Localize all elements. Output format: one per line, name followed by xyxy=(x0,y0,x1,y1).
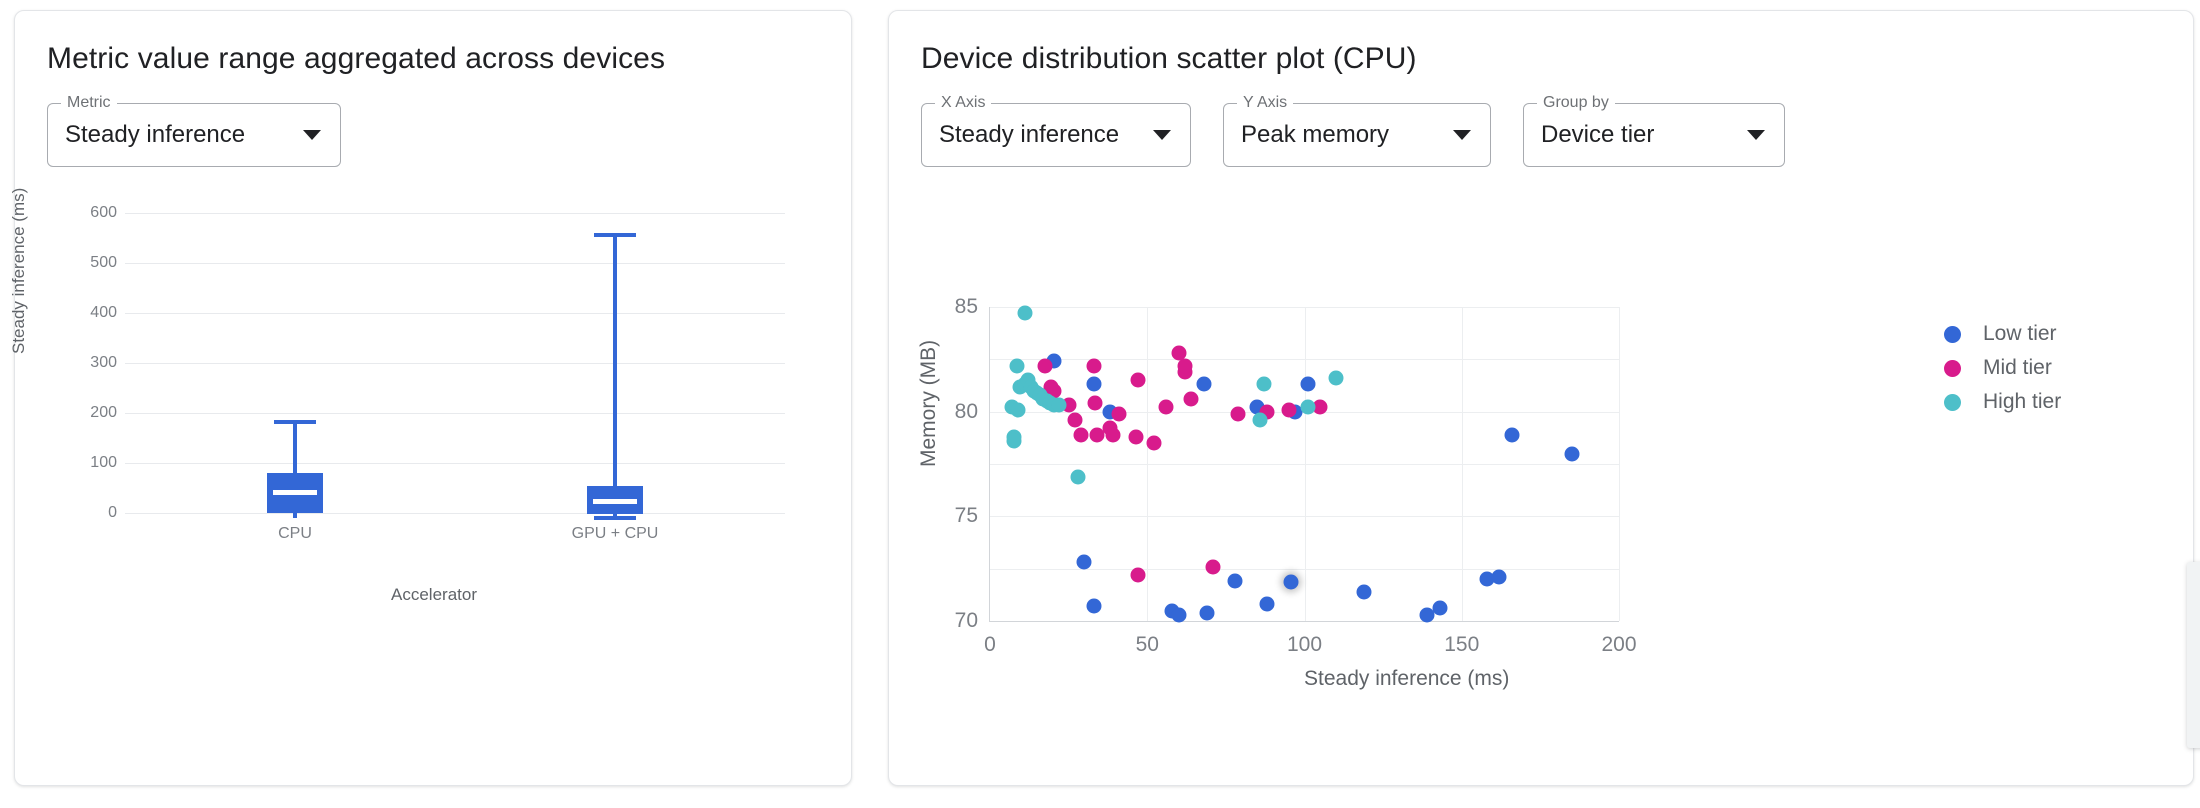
y-axis-select-label: Y Axis xyxy=(1237,94,1293,112)
scatter-dot[interactable] xyxy=(1111,406,1126,421)
group-by-select[interactable]: Group by Device tier xyxy=(1523,103,1785,167)
scatter-dot[interactable] xyxy=(1129,429,1144,444)
scatter-dot[interactable] xyxy=(1253,413,1268,428)
scatter-dot[interactable] xyxy=(1130,373,1145,388)
scatter-hgrid-75 xyxy=(990,516,1619,517)
scatter-dot[interactable] xyxy=(1011,402,1026,417)
box-gpucpu-median xyxy=(593,499,637,504)
scatter-xtick-200: 200 xyxy=(1601,633,1636,657)
scatter-dot[interactable] xyxy=(1086,377,1101,392)
scatter-xtick-100: 100 xyxy=(1287,633,1322,657)
scatter-dot[interactable] xyxy=(1071,469,1086,484)
boxplot-panel: Metric value range aggregated across dev… xyxy=(14,10,852,786)
scatter-x-axis-title: Steady inference (ms) xyxy=(1304,667,1509,691)
scatter-dot[interactable] xyxy=(1017,306,1032,321)
boxplot-controls: Metric Steady inference xyxy=(15,77,851,167)
scatter-dot[interactable] xyxy=(1006,433,1021,448)
box-gpucpu-cap-max xyxy=(594,233,636,237)
scatter-dot-selected[interactable] xyxy=(1283,574,1298,589)
scatter-dot[interactable] xyxy=(1105,427,1120,442)
scatter-ytick-80: 80 xyxy=(955,400,978,424)
box-cpu-whisker-lower xyxy=(293,513,297,518)
boxplot-category-cpu: CPU xyxy=(278,525,312,543)
dashboard-root: Metric value range aggregated across dev… xyxy=(0,0,2200,808)
box-gpucpu-cap-min xyxy=(594,516,636,520)
scatter-dot[interactable] xyxy=(1009,358,1024,373)
scatter-dot[interactable] xyxy=(1259,597,1274,612)
boxplot-chart: 600 500 400 300 200 100 0 Steady inferen… xyxy=(15,181,853,611)
scatter-dot[interactable] xyxy=(1300,377,1315,392)
scatter-dot[interactable] xyxy=(1159,400,1174,415)
x-axis-select[interactable]: X Axis Steady inference xyxy=(921,103,1191,167)
metric-select-value: Steady inference xyxy=(65,121,245,149)
scatter-dot[interactable] xyxy=(1130,567,1145,582)
boxplot-ytick-0: 0 xyxy=(67,504,117,522)
y-axis-select[interactable]: Y Axis Peak memory xyxy=(1223,103,1491,167)
metric-select-label: Metric xyxy=(61,94,117,112)
scatter-dot[interactable] xyxy=(1052,398,1067,413)
x-axis-select-value: Steady inference xyxy=(939,121,1119,149)
boxplot-ytick-100: 100 xyxy=(67,454,117,472)
scatter-dot[interactable] xyxy=(1184,392,1199,407)
boxplot-series xyxy=(125,199,785,509)
scatter-dot[interactable] xyxy=(1328,371,1343,386)
scatter-panel-title: Device distribution scatter plot (CPU) xyxy=(889,11,2193,77)
scatter-dot[interactable] xyxy=(1177,358,1192,373)
x-axis-select-label: X Axis xyxy=(935,94,991,112)
scatter-dot[interactable] xyxy=(1505,427,1520,442)
boxplot-ytick-300: 300 xyxy=(67,354,117,372)
scatter-hgrid-77-5 xyxy=(990,464,1619,465)
scatter-dot[interactable] xyxy=(1200,605,1215,620)
scatter-dot[interactable] xyxy=(1067,413,1082,428)
boxplot-ytick-400: 400 xyxy=(67,304,117,322)
scatter-xtick-0: 0 xyxy=(984,633,996,657)
gridline-0 xyxy=(125,513,785,514)
boxplot-ytick-600: 600 xyxy=(67,204,117,222)
scatter-dot[interactable] xyxy=(1038,358,1053,373)
legend-item-high-tier[interactable]: High tier xyxy=(1944,385,2061,419)
scatter-dot[interactable] xyxy=(1231,406,1246,421)
scatter-dot[interactable] xyxy=(1564,446,1579,461)
box-cpu-cap-max xyxy=(274,420,316,424)
scatter-dot[interactable] xyxy=(1206,559,1221,574)
scatter-controls: X Axis Steady inference Y Axis Peak memo… xyxy=(889,77,2193,167)
boxplot-x-axis-title: Accelerator xyxy=(391,585,477,605)
scatter-dot[interactable] xyxy=(1088,396,1103,411)
scatter-dot[interactable] xyxy=(1357,584,1372,599)
scatter-dot[interactable] xyxy=(1086,599,1101,614)
legend-swatch-low-tier xyxy=(1944,326,1961,343)
scatter-dot[interactable] xyxy=(1171,607,1186,622)
scatter-hgrid-82-5 xyxy=(990,359,1619,360)
boxplot-ytick-500: 500 xyxy=(67,254,117,272)
chevron-down-icon[interactable] xyxy=(1153,130,1171,140)
scatter-tooltip: Samsung Galaxy A51 - Steady inference (m… xyxy=(2187,562,2200,748)
scatter-ytick-70: 70 xyxy=(955,609,978,633)
chevron-down-icon[interactable] xyxy=(303,130,321,140)
y-axis-select-value: Peak memory xyxy=(1241,121,1389,149)
legend-item-mid-tier[interactable]: Mid tier xyxy=(1944,351,2061,385)
group-by-select-label: Group by xyxy=(1537,94,1615,112)
scatter-chart: Memory (MB) 85 80 75 70 xyxy=(889,167,2195,727)
scatter-ytick-75: 75 xyxy=(955,504,978,528)
scatter-dot[interactable] xyxy=(1228,574,1243,589)
scatter-hgrid-85 xyxy=(990,307,1619,308)
scatter-dot[interactable] xyxy=(1146,436,1161,451)
legend-label-low-tier: Low tier xyxy=(1983,322,2057,346)
scatter-panel: Device distribution scatter plot (CPU) X… xyxy=(888,10,2194,786)
scatter-dot[interactable] xyxy=(1196,377,1211,392)
scatter-dot[interactable] xyxy=(1300,400,1315,415)
scatter-vgrid-200 xyxy=(1619,307,1620,621)
legend-label-high-tier: High tier xyxy=(1983,390,2061,414)
legend-swatch-mid-tier xyxy=(1944,360,1961,377)
legend-swatch-high-tier xyxy=(1944,394,1961,411)
scatter-plot-area[interactable]: 85 80 75 70 0 50 100 150 200 xyxy=(989,307,1619,622)
scatter-legend: Low tier Mid tier High tier xyxy=(1944,317,2061,419)
scatter-xtick-50: 50 xyxy=(1136,633,1159,657)
box-gpucpu-whisker-upper xyxy=(613,235,617,487)
scatter-dot[interactable] xyxy=(1074,427,1089,442)
boxplot-ytick-200: 200 xyxy=(67,404,117,422)
scatter-dot[interactable] xyxy=(1086,358,1101,373)
scatter-dot[interactable] xyxy=(1432,601,1447,616)
scatter-dot[interactable] xyxy=(1492,570,1507,585)
boxplot-category-gpu-cpu: GPU + CPU xyxy=(572,525,659,543)
scatter-xtick-150: 150 xyxy=(1444,633,1479,657)
group-by-select-value: Device tier xyxy=(1541,121,1654,149)
boxplot-plot-area xyxy=(125,199,785,509)
boxplot-y-axis-title: Steady inference (ms) xyxy=(9,188,29,354)
boxplot-panel-title: Metric value range aggregated across dev… xyxy=(15,11,851,77)
legend-label-mid-tier: Mid tier xyxy=(1983,356,2052,380)
metric-select[interactable]: Metric Steady inference xyxy=(47,103,341,167)
chevron-down-icon[interactable] xyxy=(1747,130,1765,140)
scatter-dot[interactable] xyxy=(1256,377,1271,392)
scatter-dot[interactable] xyxy=(1281,402,1296,417)
scatter-dot[interactable] xyxy=(1077,555,1092,570)
legend-item-low-tier[interactable]: Low tier xyxy=(1944,317,2061,351)
scatter-ytick-85: 85 xyxy=(955,295,978,319)
scatter-y-axis-title: Memory (MB) xyxy=(917,340,941,467)
box-cpu-median xyxy=(273,490,317,495)
chevron-down-icon[interactable] xyxy=(1453,130,1471,140)
